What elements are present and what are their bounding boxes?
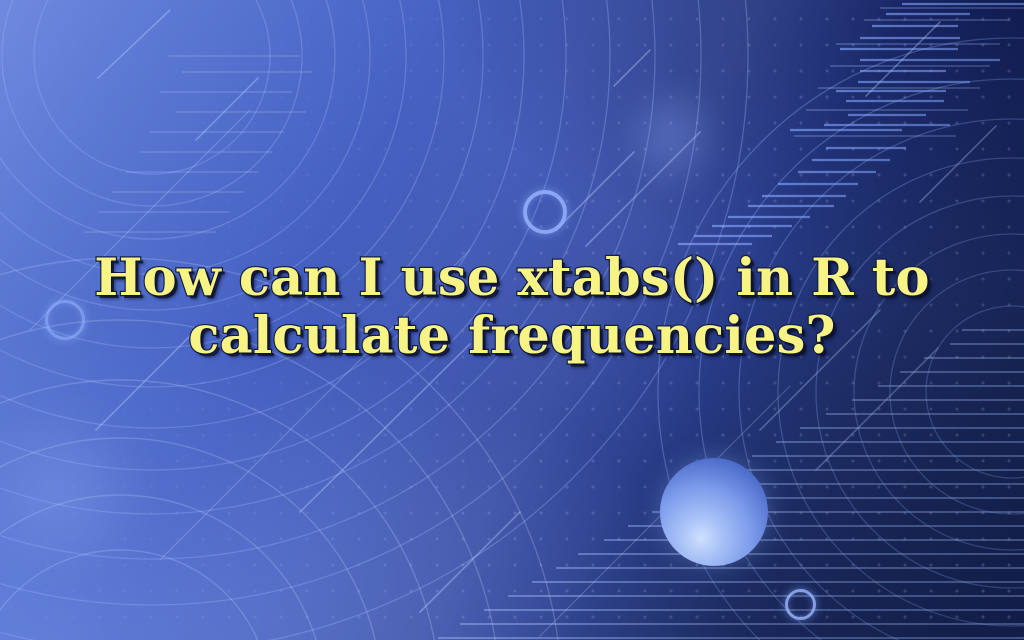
glow-sphere-bottom [660, 458, 768, 566]
ring-circle-center [523, 190, 567, 234]
title-line-2: calculate frequencies? [40, 307, 984, 365]
hero-banner: How can I use xtabs() in R to calculate … [0, 0, 1024, 640]
page-title: How can I use xtabs() in R to calculate … [0, 249, 1024, 365]
title-line-1: How can I use xtabs() in R to [40, 249, 984, 307]
glow-orb-top [596, 56, 746, 216]
ring-circle-bottom-right [785, 589, 816, 620]
